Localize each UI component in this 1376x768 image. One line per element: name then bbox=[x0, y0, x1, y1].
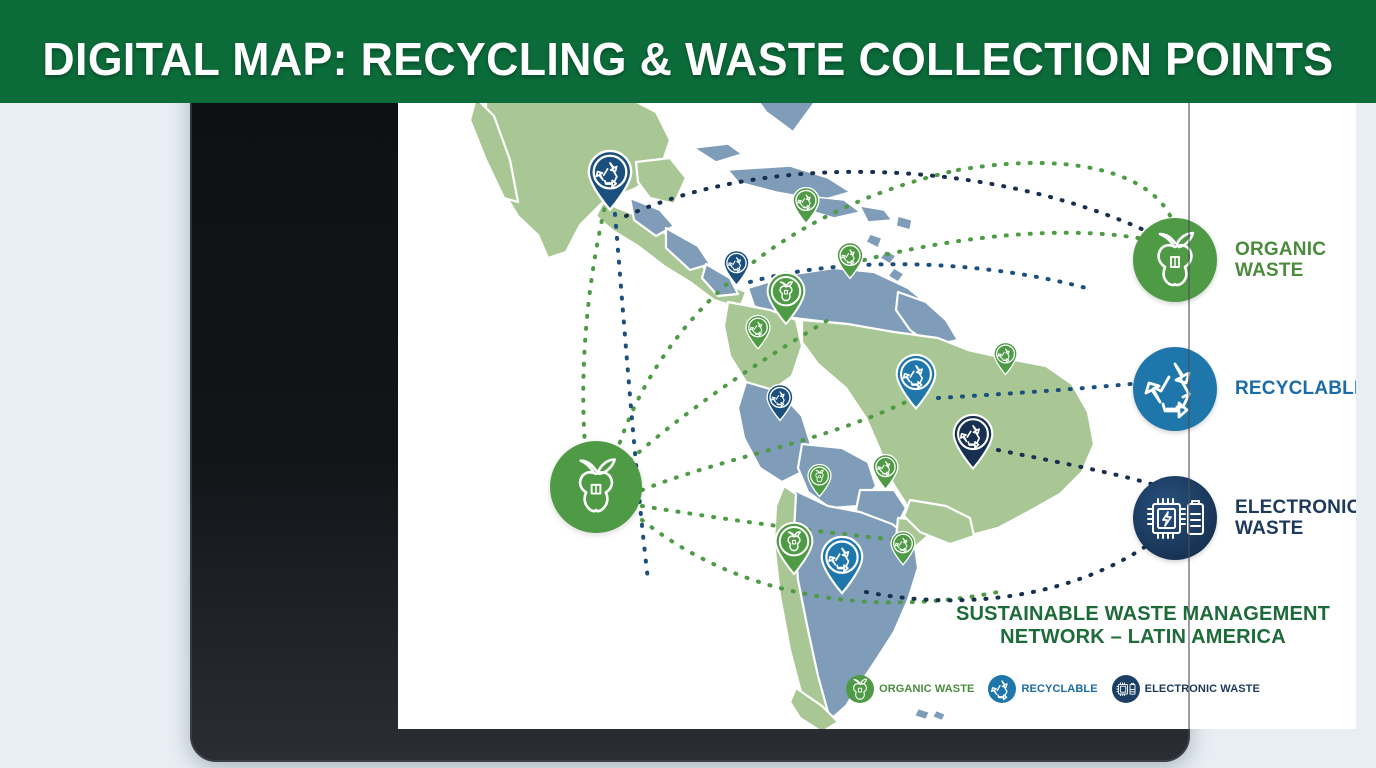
pin-marker-icon bbox=[766, 384, 794, 421]
map-pin-organic[interactable] bbox=[766, 272, 806, 325]
map-pin-organic[interactable] bbox=[872, 454, 899, 490]
pin-marker-icon bbox=[792, 187, 820, 224]
pin-marker-icon bbox=[836, 242, 864, 279]
pin-marker-icon bbox=[745, 315, 771, 349]
pin-marker-icon bbox=[774, 522, 814, 575]
map-pin-recyclable[interactable] bbox=[820, 536, 864, 594]
pin-marker-icon bbox=[993, 342, 1018, 375]
tablet-device-frame: ORGANIC WASTE bbox=[190, 0, 1190, 762]
pin-marker-icon bbox=[872, 454, 899, 490]
map-pin-layer bbox=[398, 20, 1356, 729]
pin-marker-icon bbox=[723, 250, 750, 286]
tablet-screen: ORGANIC WASTE bbox=[398, 20, 1356, 729]
map-pin-organic[interactable] bbox=[792, 187, 820, 224]
pin-marker-icon bbox=[890, 531, 916, 565]
map-pin-organic[interactable] bbox=[745, 315, 771, 349]
map-pin-recyclable[interactable] bbox=[766, 384, 794, 421]
pin-marker-icon bbox=[766, 272, 806, 325]
map-pin-organic[interactable] bbox=[890, 531, 916, 565]
map-pin-organic[interactable] bbox=[836, 242, 864, 279]
map-pin-recyclable[interactable] bbox=[587, 150, 633, 211]
map-pin-electronic[interactable] bbox=[952, 414, 994, 469]
map-pin-organic[interactable] bbox=[807, 464, 832, 497]
map-pin-organic[interactable] bbox=[993, 342, 1018, 375]
title-banner: DIGITAL MAP: RECYCLING & WASTE COLLECTIO… bbox=[0, 0, 1376, 103]
page-title: DIGITAL MAP: RECYCLING & WASTE COLLECTIO… bbox=[21, 0, 1356, 103]
screenshot-root: ORGANIC WASTE bbox=[0, 0, 1376, 768]
map-pin-organic[interactable] bbox=[774, 522, 814, 575]
map-pin-recyclable[interactable] bbox=[895, 354, 937, 409]
pin-marker-icon bbox=[895, 354, 937, 409]
pin-marker-icon bbox=[820, 536, 864, 594]
map-pin-recyclable[interactable] bbox=[723, 250, 750, 286]
pin-marker-icon bbox=[807, 464, 832, 497]
pin-marker-icon bbox=[952, 414, 994, 469]
pin-marker-icon bbox=[587, 150, 633, 211]
